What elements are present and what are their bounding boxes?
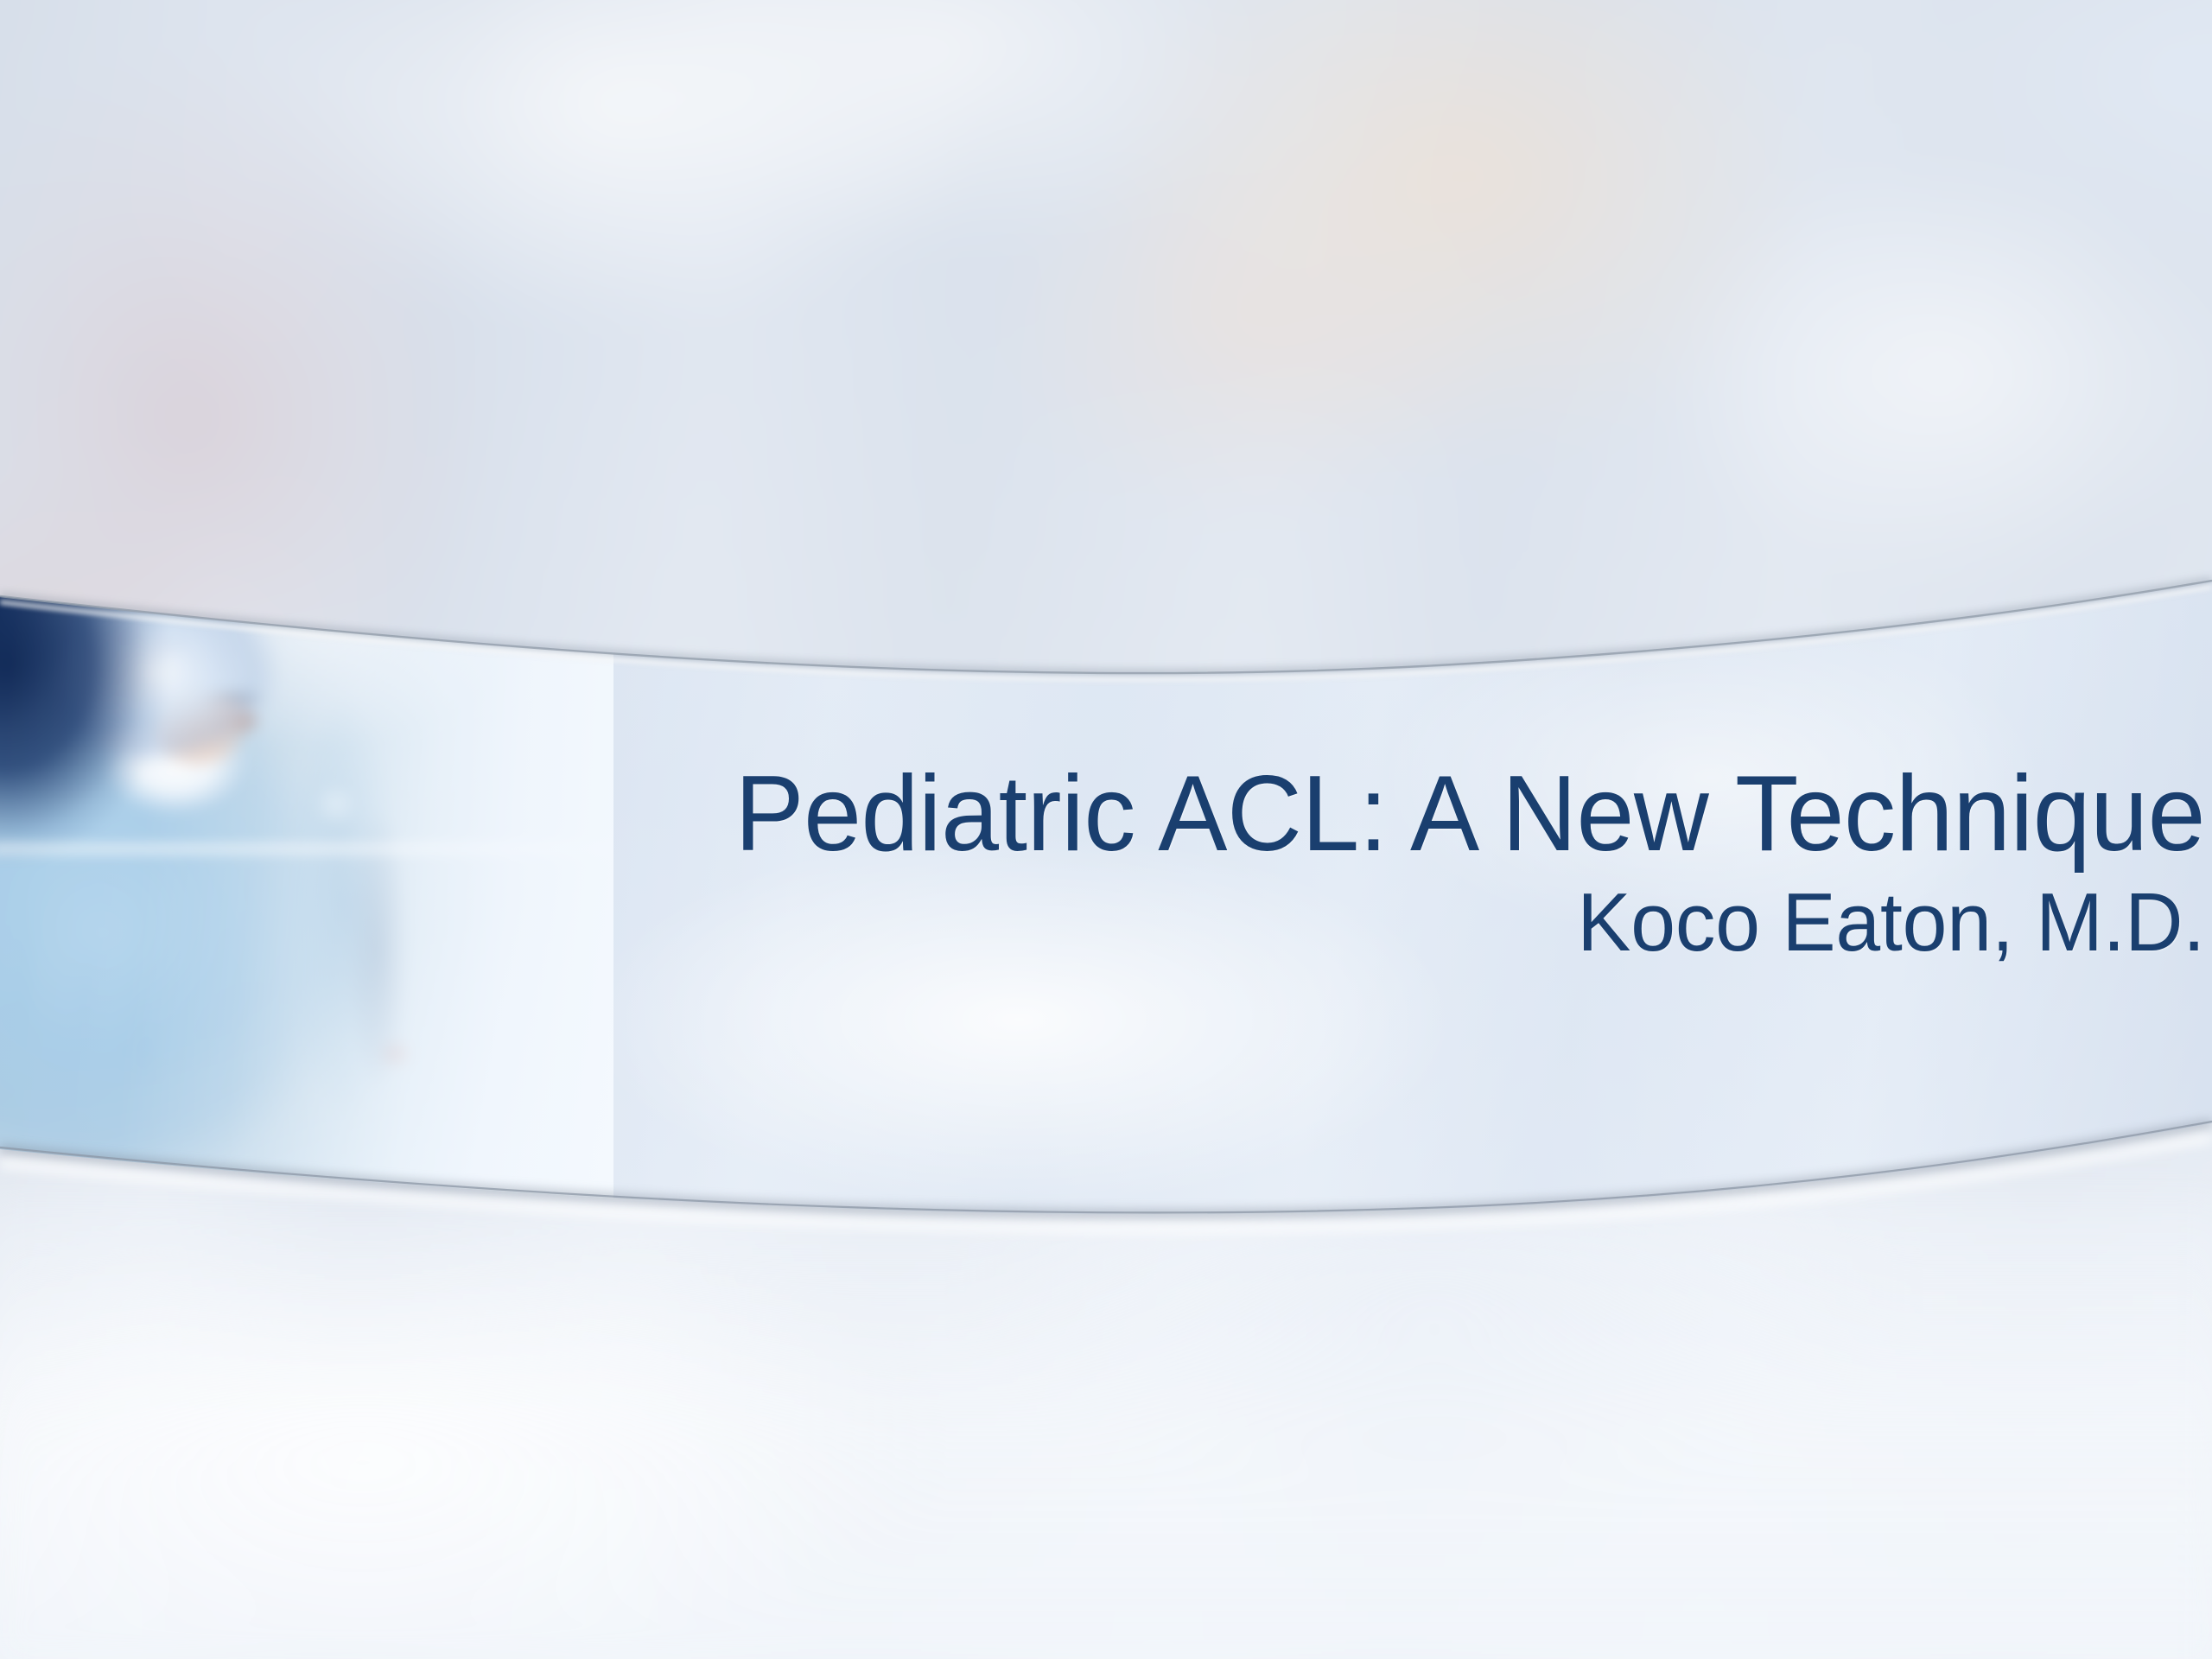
presenter-name: Koco Eaton, M.D. xyxy=(67,881,2205,964)
title-block: Pediatric ACL: A New Technique Koco Eato… xyxy=(0,760,2212,964)
presentation-slide: Pediatric ACL: A New Technique Koco Eato… xyxy=(0,0,2212,1659)
background-bottom-wash xyxy=(0,1192,2212,1659)
page-title: Pediatric ACL: A New Technique xyxy=(67,760,2205,868)
